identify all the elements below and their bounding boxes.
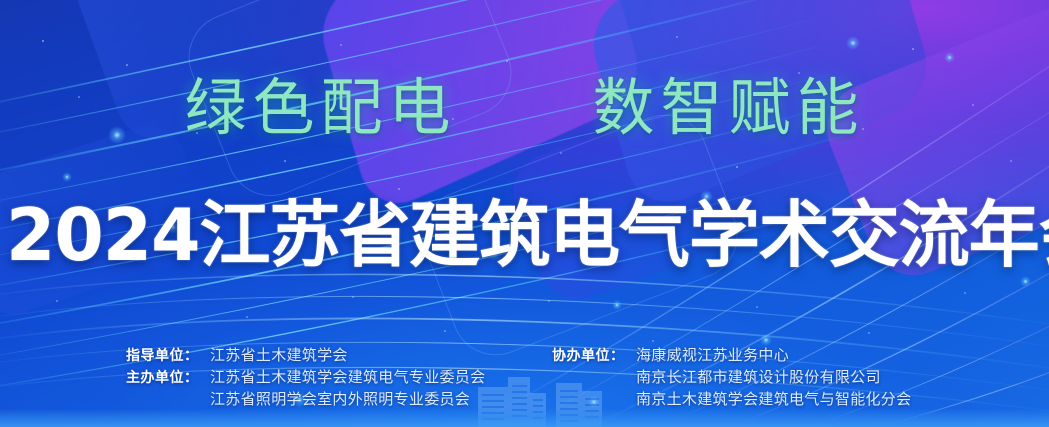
speckle: [676, 36, 678, 38]
credit-label: 主办单位：: [126, 366, 210, 388]
credit-row: 南京长江都市建筑设计股份有限公司: [552, 366, 1049, 388]
speckle: [548, 300, 550, 302]
credit-label: 协办单位：: [552, 344, 636, 366]
banner-subtitle: 绿色配电 数智赋能: [0, 72, 1049, 144]
credit-label-spacer: [552, 366, 636, 388]
credit-label-spacer: [552, 388, 636, 410]
credit-row: 协办单位： 海康威视江苏业务中心: [552, 344, 1049, 366]
speckle: [912, 48, 914, 50]
speckle: [56, 300, 58, 302]
credits-block: 指导单位： 江苏省土木建筑学会 主办单位： 江苏省土木建筑学会建筑电气专业委员会…: [0, 344, 1049, 424]
speckle: [444, 330, 446, 332]
speckle: [126, 64, 128, 66]
speckle: [506, 60, 508, 62]
conference-banner: 绿色配电 数智赋能 2024江苏省建筑电气学术交流年会 指导单位： 江苏省土木建…: [0, 0, 1049, 427]
credit-value: 海康威视江苏业务中心: [636, 345, 789, 367]
speckle: [1010, 160, 1012, 162]
credit-row: 南京土木建筑学会建筑电气与智能化分会: [552, 388, 1049, 410]
speckle: [284, 160, 286, 162]
speckle: [352, 296, 354, 298]
glow-spot-10: [612, 300, 622, 310]
glow-spot-11: [1020, 276, 1031, 287]
credit-value: 江苏省土木建筑学会: [210, 345, 348, 367]
speckle: [652, 340, 654, 342]
speckle: [756, 306, 758, 308]
credit-value: 江苏省土木建筑学会建筑电气专业委员会: [210, 367, 485, 389]
speckle: [736, 166, 738, 168]
credit-value: 江苏省照明学会室内外照明专业委员会: [210, 389, 470, 411]
speckle: [246, 316, 248, 318]
glow-spot-5: [944, 52, 955, 63]
credit-row: 指导单位： 江苏省土木建筑学会: [126, 344, 538, 366]
glow-spot-4: [846, 36, 860, 50]
credit-label-spacer: [126, 388, 210, 410]
speckle: [42, 40, 44, 42]
glow-spot-12: [62, 172, 72, 182]
banner-title: 2024江苏省建筑电气学术交流年会: [6, 193, 1030, 277]
credit-label: 指导单位：: [126, 344, 210, 366]
speckle: [340, 44, 342, 46]
credit-value: 南京长江都市建筑设计股份有限公司: [636, 367, 881, 389]
speckle: [398, 188, 400, 190]
credit-row: 江苏省照明学会室内外照明专业委员会: [126, 388, 538, 410]
credits-right-column: 协办单位： 海康威视江苏业务中心 南京长江都市建筑设计股份有限公司 南京土木建筑…: [538, 344, 1049, 424]
credit-value: 南京土木建筑学会建筑电气与智能化分会: [636, 389, 911, 411]
speckle: [868, 332, 870, 334]
speckle: [964, 292, 966, 294]
credit-row: 主办单位： 江苏省土木建筑学会建筑电气专业委员会: [126, 366, 538, 388]
credits-left-column: 指导单位： 江苏省土木建筑学会 主办单位： 江苏省土木建筑学会建筑电气专业委员会…: [0, 344, 538, 424]
speckle: [560, 152, 562, 154]
